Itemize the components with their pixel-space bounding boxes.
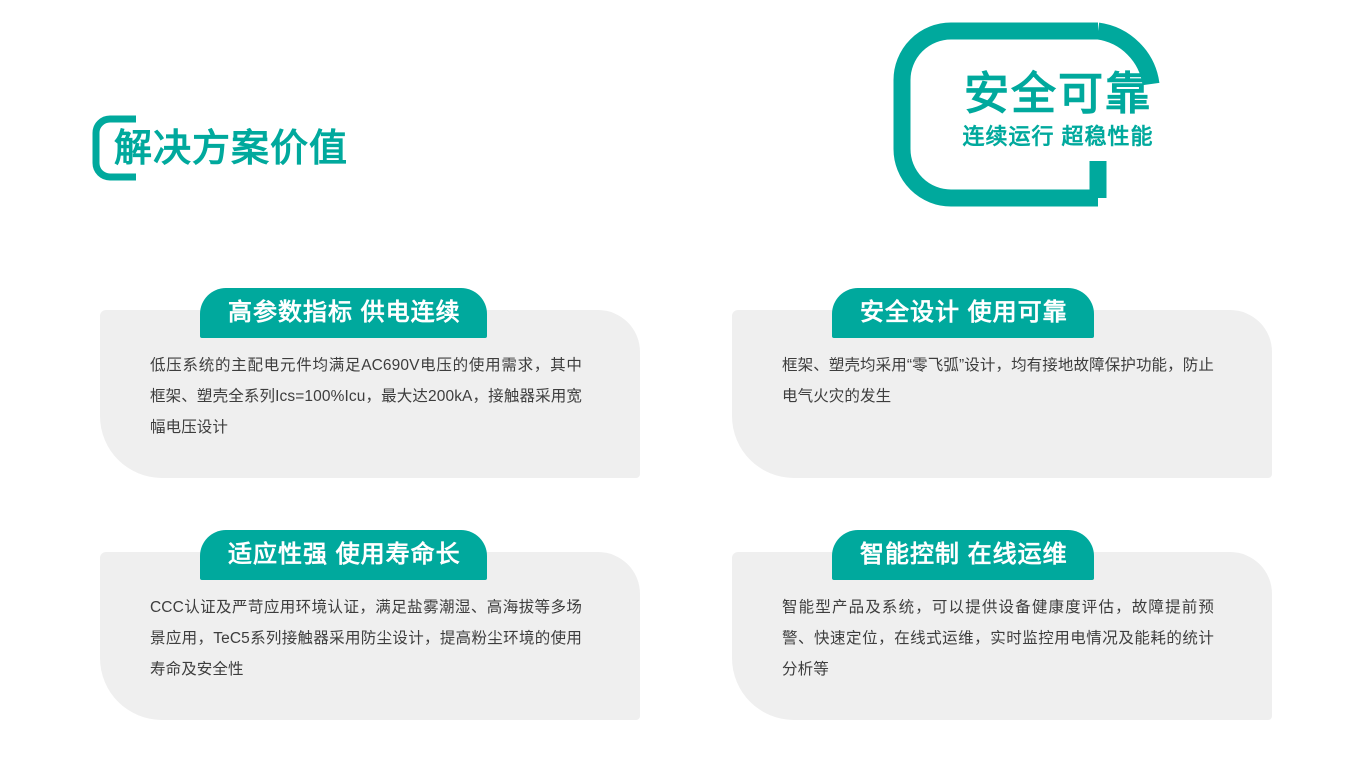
- card-body-text: 低压系统的主配电元件均满足AC690V电压的使用需求，其中框架、塑壳全系列Ics…: [150, 350, 582, 443]
- card-badge: 智能控制 在线运维: [832, 530, 1094, 580]
- card-body-text: CCC认证及严苛应用环境认证，满足盐雾潮湿、高海拔等多场景应用，TeC5系列接触…: [150, 592, 582, 685]
- logo-text-block: 安全可靠 连续运行 超稳性能: [938, 68, 1178, 151]
- card-body: 智能型产品及系统，可以提供设备健康度评估，故障提前预警、快速定位，在线式运维，实…: [782, 592, 1214, 685]
- page-title: 解决方案价值: [114, 126, 348, 172]
- feature-card-grid: 高参数指标 供电连续 低压系统的主配电元件均满足AC690V电压的使用需求，其中…: [0, 288, 1350, 722]
- card-body-text: 框架、塑壳均采用“零飞弧”设计，均有接地故障保护功能，防止电气火灾的发生: [782, 350, 1214, 412]
- feature-card-2: 安全设计 使用可靠 框架、塑壳均采用“零飞弧”设计，均有接地故障保护功能，防止电…: [732, 288, 1272, 480]
- card-badge: 安全设计 使用可靠: [832, 288, 1094, 338]
- feature-card-3: 适应性强 使用寿命长 CCC认证及严苛应用环境认证，满足盐雾潮湿、高海拔等多场景…: [100, 530, 640, 722]
- card-body: CCC认证及严苛应用环境认证，满足盐雾潮湿、高海拔等多场景应用，TeC5系列接触…: [150, 592, 582, 685]
- card-badge: 适应性强 使用寿命长: [200, 530, 487, 580]
- card-badge: 高参数指标 供电连续: [200, 288, 487, 338]
- card-row-bottom: 适应性强 使用寿命长 CCC认证及严苛应用环境认证，满足盐雾潮湿、高海拔等多场景…: [0, 530, 1350, 722]
- feature-card-4: 智能控制 在线运维 智能型产品及系统，可以提供设备健康度评估，故障提前预警、快速…: [732, 530, 1272, 722]
- card-badge-label: 高参数指标 供电连续: [228, 288, 461, 338]
- feature-card-1: 高参数指标 供电连续 低压系统的主配电元件均满足AC690V电压的使用需求，其中…: [100, 288, 640, 480]
- logo-subtitle: 连续运行 超稳性能: [938, 123, 1178, 151]
- card-body: 框架、塑壳均采用“零飞弧”设计，均有接地故障保护功能，防止电气火灾的发生: [782, 350, 1214, 412]
- logo-title: 安全可靠: [938, 68, 1178, 120]
- page-root: 安全可靠 连续运行 超稳性能 解决方案价值 高参数指标 供电连续 低压系统的主配…: [0, 0, 1350, 782]
- card-badge-label: 适应性强 使用寿命长: [228, 530, 461, 580]
- card-badge-label: 安全设计 使用可靠: [860, 288, 1068, 338]
- card-badge-label: 智能控制 在线运维: [860, 530, 1068, 580]
- section-heading: 解决方案价值: [92, 113, 348, 185]
- card-body: 低压系统的主配电元件均满足AC690V电压的使用需求，其中框架、塑壳全系列Ics…: [150, 350, 582, 443]
- card-row-top: 高参数指标 供电连续 低压系统的主配电元件均满足AC690V电压的使用需求，其中…: [0, 288, 1350, 480]
- card-body-text: 智能型产品及系统，可以提供设备健康度评估，故障提前预警、快速定位，在线式运维，实…: [782, 592, 1214, 685]
